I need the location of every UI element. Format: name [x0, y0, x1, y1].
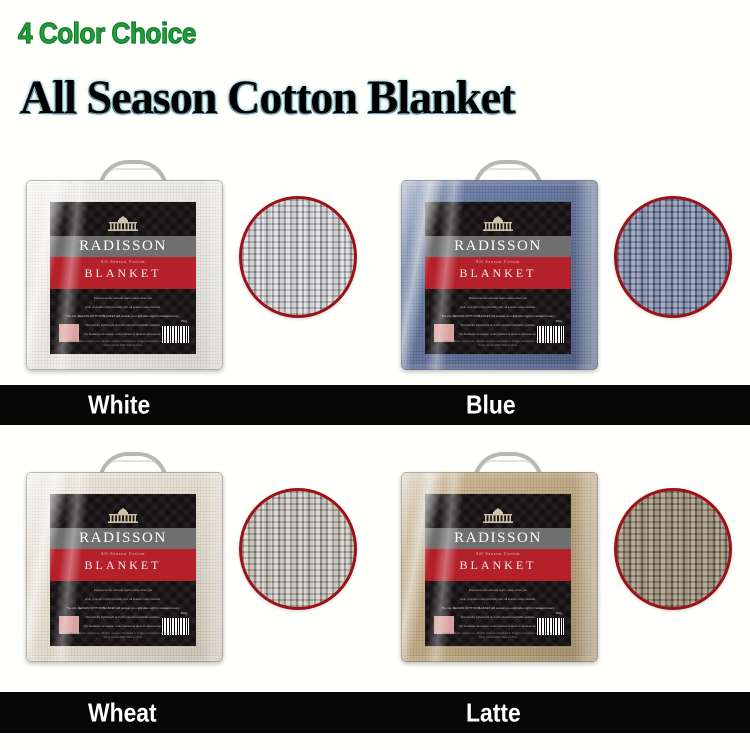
package-edge: [401, 180, 598, 370]
color-name-blue: Blue: [466, 390, 516, 421]
package-edge: [401, 472, 598, 662]
swatch-texture: [239, 488, 357, 610]
swatch-texture: [614, 488, 732, 610]
swatch-wheat: [239, 488, 357, 610]
package-edge: [26, 180, 223, 370]
swatch-white: [239, 196, 357, 318]
product-color-chart: 4 Color Choice All Season Cotton Blanket: [0, 0, 750, 750]
package-white: RADISSON All Season Cotton BLANKET Exper…: [26, 160, 226, 372]
product-cell-wheat: RADISSON All Season Cotton BLANKET Exper…: [0, 440, 375, 685]
color-name-bar-row-1: White Blue: [0, 385, 750, 425]
swatch-latte: [614, 488, 732, 610]
package-blue: RADISSON All Season Cotton BLANKET Exper…: [401, 160, 601, 372]
package-wheat: RADISSON All Season Cotton BLANKET Exper…: [26, 452, 226, 664]
product-cell-latte: RADISSON All Season Cotton BLANKET Exper…: [375, 440, 750, 685]
product-cell-blue: RADISSON All Season Cotton BLANKET Exper…: [375, 148, 750, 385]
product-cell-white: RADISSON All Season Cotton BLANKET Exper…: [0, 148, 375, 385]
swatch-blue: [614, 196, 732, 318]
color-name-bar-row-2: Wheat Latte: [0, 692, 750, 733]
swatch-texture: [614, 196, 732, 318]
color-name-latte: Latte: [466, 697, 521, 728]
color-name-wheat: Wheat: [88, 697, 157, 728]
color-name-white: White: [88, 390, 150, 421]
package-latte: RADISSON All Season Cotton BLANKET Exper…: [401, 452, 601, 664]
page-title: All Season Cotton Blanket: [20, 70, 514, 125]
product-row-2: RADISSON All Season Cotton BLANKET Exper…: [0, 440, 750, 685]
swatch-texture: [239, 196, 357, 318]
eyebrow-heading: 4 Color Choice: [18, 18, 196, 51]
product-row-1: RADISSON All Season Cotton BLANKET Exper…: [0, 148, 750, 385]
package-edge: [26, 472, 223, 662]
